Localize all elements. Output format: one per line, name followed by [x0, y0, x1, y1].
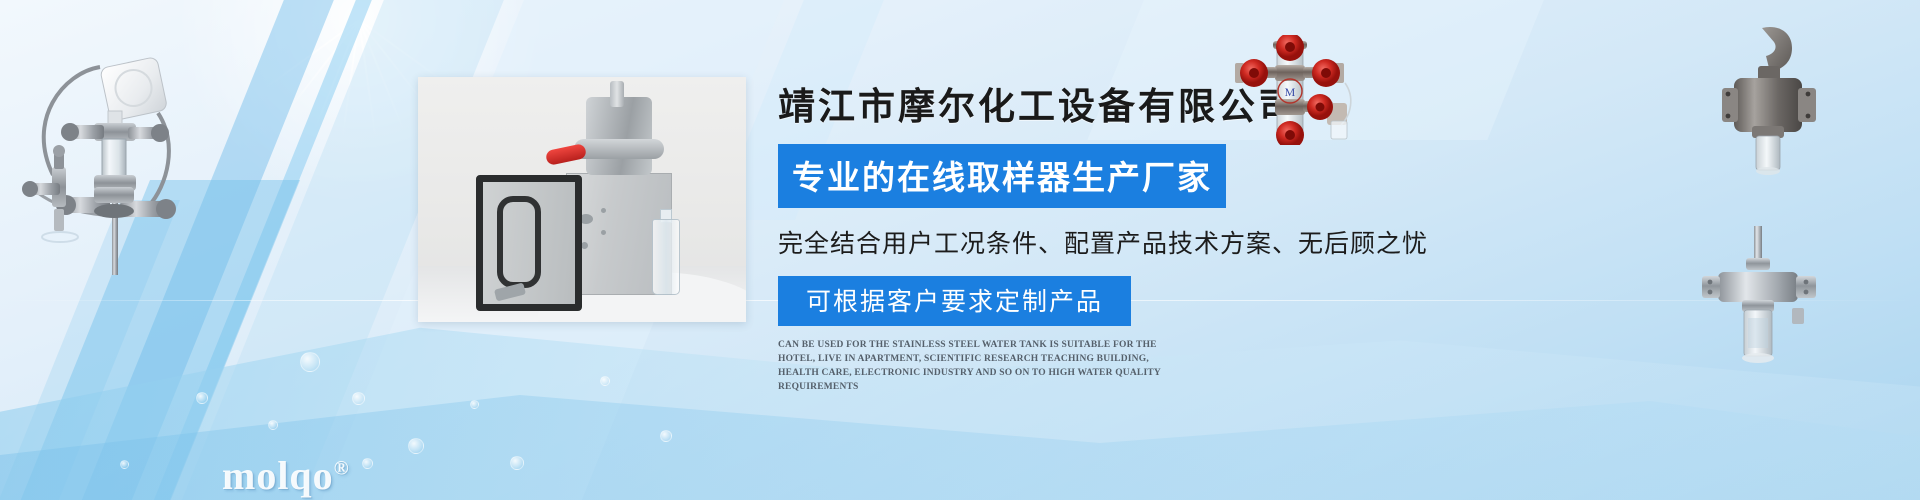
valve-flange [574, 139, 664, 159]
sun-ray-icon [358, 20, 405, 132]
cabinet-door-window [497, 196, 541, 288]
cabinet-screw [601, 208, 606, 213]
sampler-assembly-graphic [8, 25, 198, 275]
cross-valve-illustration: M [1215, 35, 1365, 145]
water-droplet-icon [660, 430, 672, 442]
cabinet-screw [581, 242, 588, 249]
water-droplet-icon [600, 376, 610, 386]
water-droplet-icon [352, 392, 365, 405]
water-droplet-icon [268, 420, 278, 430]
left-equipment-illustration [8, 25, 198, 275]
svg-text:M: M [1285, 85, 1296, 99]
cta-badge[interactable]: 可根据客户要求定制产品 [778, 276, 1131, 326]
sampler-valve-head [586, 97, 652, 175]
sun-ray-icon [261, 19, 359, 91]
water-droplet-icon [408, 438, 424, 454]
cabinet-door [476, 175, 582, 311]
headline-badge: 专业的在线取样器生产厂家 [778, 144, 1226, 208]
promo-banner: 靖江市摩尔化工设备有限公司 专业的在线取样器生产厂家 完全结合用户工况条件、配置… [0, 0, 1920, 500]
cabinet-screw [601, 230, 606, 235]
water-droplet-icon [470, 400, 479, 409]
sample-bottle [652, 219, 680, 295]
product-photo [418, 77, 746, 322]
bottom-valve-illustration [1680, 222, 1840, 382]
water-droplet-icon [120, 460, 129, 469]
cabinet-latch [494, 283, 526, 302]
top-valve-illustration [1700, 22, 1840, 182]
sun-ray-icon [358, 20, 377, 139]
brand-watermark: molqo® [222, 452, 350, 499]
sun-ray-icon [313, 20, 360, 132]
sample-valve-graphic [1680, 222, 1840, 382]
subheadline: 完全结合用户工况条件、配置产品技术方案、无后顾之忧 [778, 224, 1398, 260]
fineprint-text: CAN BE USED FOR THE STAINLESS STEEL WATE… [778, 338, 1173, 394]
brand-name: molqo [222, 453, 334, 498]
red-handle [545, 143, 587, 166]
water-droplet-icon [510, 456, 524, 470]
water-droplet-icon [362, 458, 373, 469]
water-droplet-icon [300, 352, 320, 372]
water-droplet-icon [196, 392, 208, 404]
flanged-valve-graphic [1700, 22, 1840, 182]
sun-ray-icon [284, 19, 359, 115]
sun-ray-icon [341, 20, 360, 139]
registered-mark-icon: ® [334, 458, 350, 480]
valve-stem [610, 81, 624, 107]
cross-valve-graphic: M [1215, 35, 1365, 145]
